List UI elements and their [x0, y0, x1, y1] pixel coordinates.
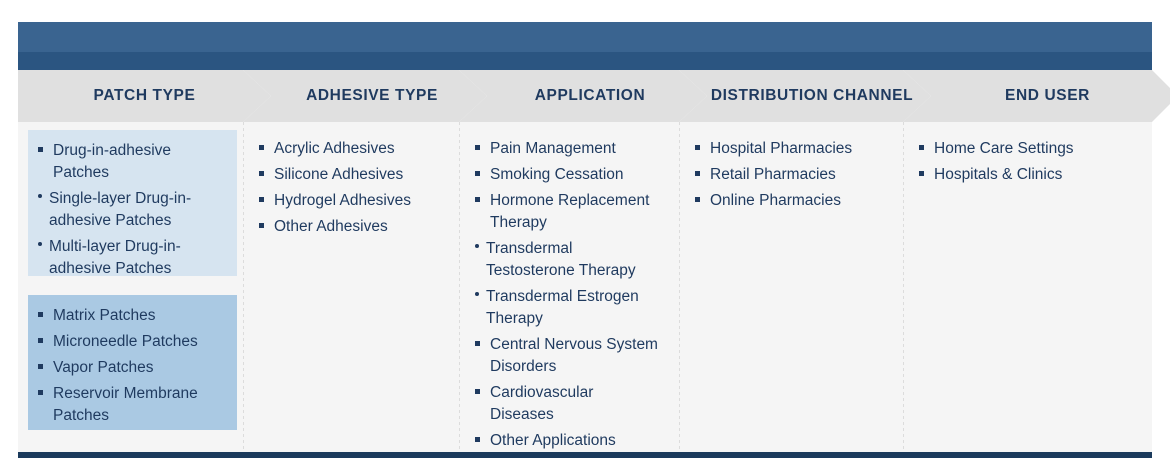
list-item[interactable]: Matrix Patches	[36, 305, 227, 327]
item-label: Retail Pharmacies	[710, 166, 836, 183]
list-item[interactable]: Other Applications	[473, 430, 661, 452]
column-header-distribution-channel[interactable]: DISTRIBUTION CHANNEL	[679, 70, 931, 122]
item-list: Pain ManagementSmoking CessationHormone …	[473, 138, 661, 452]
square-bullet-icon	[475, 171, 480, 176]
square-bullet-icon	[695, 145, 700, 150]
item-label: Smoking Cessation	[490, 166, 624, 183]
list-item[interactable]: Online Pharmacies	[693, 190, 885, 212]
column-header-label: ADHESIVE TYPE	[290, 87, 454, 105]
item-label: Other Applications	[490, 432, 616, 449]
top-accent-bar-upper	[18, 22, 1152, 52]
item-label: Microneedle Patches	[53, 333, 198, 350]
square-bullet-icon	[475, 341, 480, 346]
column-body-end-user: Home Care SettingsHospitals & Clinics	[903, 122, 1152, 452]
square-bullet-icon	[919, 171, 924, 176]
square-bullet-icon	[38, 147, 43, 152]
list-item[interactable]: Central Nervous System Disorders	[473, 334, 661, 378]
column-header-label: APPLICATION	[519, 87, 662, 105]
square-bullet-icon	[259, 197, 264, 202]
item-label: Cardiovascular Diseases	[490, 384, 593, 423]
square-bullet-icon	[38, 338, 43, 343]
item-label: Pain Management	[490, 140, 616, 157]
sub-list-item[interactable]: Single-layer Drug-in-adhesive Patches	[36, 188, 227, 232]
column-body-distribution-channel: Hospital PharmaciesRetail PharmaciesOnli…	[679, 122, 903, 452]
item-label: Vapor Patches	[53, 359, 154, 376]
dot-bullet-icon	[38, 194, 42, 198]
list-item[interactable]: Reservoir Membrane Patches	[36, 383, 227, 427]
item-label: Multi-layer Drug-in-adhesive Patches	[49, 238, 181, 277]
item-label: Matrix Patches	[53, 307, 156, 324]
item-list: Matrix PatchesMicroneedle PatchesVapor P…	[36, 305, 227, 427]
list-item[interactable]: Hospital Pharmacies	[693, 138, 885, 160]
column-header-application[interactable]: APPLICATION	[459, 70, 707, 122]
item-group: Pain ManagementSmoking CessationHormone …	[473, 138, 661, 456]
item-label: Online Pharmacies	[710, 192, 841, 209]
column-header-label: END USER	[989, 87, 1106, 105]
item-label: Other Adhesives	[274, 218, 388, 235]
item-label: Drug-in-adhesive Patches	[53, 142, 171, 181]
list-item[interactable]: Acrylic Adhesives	[257, 138, 441, 160]
item-group: Hospital PharmaciesRetail PharmaciesOnli…	[693, 138, 885, 216]
item-label: Transdermal Estrogen Therapy	[486, 288, 639, 327]
list-item[interactable]: Retail Pharmacies	[693, 164, 885, 186]
square-bullet-icon	[695, 197, 700, 202]
item-label: Hospitals & Clinics	[934, 166, 1062, 183]
square-bullet-icon	[259, 145, 264, 150]
list-item[interactable]: Drug-in-adhesive Patches	[36, 140, 227, 184]
item-label: Hormone Replacement Therapy	[490, 192, 649, 231]
item-label: Reservoir Membrane Patches	[53, 385, 198, 424]
column-header-label: DISTRIBUTION CHANNEL	[695, 87, 929, 105]
square-bullet-icon	[475, 145, 480, 150]
item-label: Transdermal Testosterone Therapy	[486, 240, 636, 279]
list-item[interactable]: Hormone Replacement Therapy	[473, 190, 661, 234]
list-item[interactable]: Vapor Patches	[36, 357, 227, 379]
square-bullet-icon	[259, 171, 264, 176]
list-item[interactable]: Hospitals & Clinics	[917, 164, 1134, 186]
square-bullet-icon	[475, 389, 480, 394]
column-header-label: PATCH TYPE	[78, 87, 212, 105]
square-bullet-icon	[919, 145, 924, 150]
item-list: Acrylic AdhesivesSilicone AdhesivesHydro…	[257, 138, 441, 238]
item-list: Hospital PharmaciesRetail PharmaciesOnli…	[693, 138, 885, 212]
square-bullet-icon	[38, 312, 43, 317]
square-bullet-icon	[38, 390, 43, 395]
list-item[interactable]: Home Care Settings	[917, 138, 1134, 160]
item-group: Matrix PatchesMicroneedle PatchesVapor P…	[28, 295, 237, 430]
square-bullet-icon	[475, 197, 480, 202]
list-item[interactable]: Cardiovascular Diseases	[473, 382, 661, 426]
sub-list-item[interactable]: Multi-layer Drug-in-adhesive Patches	[36, 236, 227, 280]
square-bullet-icon	[695, 171, 700, 176]
segmentation-chart: PATCH TYPEADHESIVE TYPEAPPLICATIONDISTRI…	[0, 0, 1170, 476]
column-body-application: Pain ManagementSmoking CessationHormone …	[459, 122, 679, 452]
list-item[interactable]: Hydrogel Adhesives	[257, 190, 441, 212]
dot-bullet-icon	[38, 242, 42, 246]
column-header-adhesive-type[interactable]: ADHESIVE TYPE	[243, 70, 487, 122]
column-body-patch-type: Drug-in-adhesive PatchesSingle-layer Dru…	[18, 122, 243, 452]
item-label: Acrylic Adhesives	[274, 140, 395, 157]
item-label: Home Care Settings	[934, 140, 1074, 157]
column-header-end-user[interactable]: END USER	[903, 70, 1170, 122]
item-label: Hydrogel Adhesives	[274, 192, 411, 209]
item-group: Home Care SettingsHospitals & Clinics	[917, 138, 1134, 190]
top-accent-bar	[18, 22, 1152, 70]
top-accent-bar-lower	[18, 52, 1152, 70]
item-label: Hospital Pharmacies	[710, 140, 852, 157]
list-item[interactable]: Other Adhesives	[257, 216, 441, 238]
square-bullet-icon	[259, 223, 264, 228]
column-body-adhesive-type: Acrylic AdhesivesSilicone AdhesivesHydro…	[243, 122, 459, 452]
item-label: Single-layer Drug-in-adhesive Patches	[49, 190, 191, 229]
bottom-accent-bar	[18, 452, 1152, 458]
sub-list-item[interactable]: Transdermal Testosterone Therapy	[473, 238, 661, 282]
item-label: Silicone Adhesives	[274, 166, 403, 183]
column-header-patch-type[interactable]: PATCH TYPE	[18, 70, 271, 122]
item-group: Acrylic AdhesivesSilicone AdhesivesHydro…	[257, 138, 441, 242]
list-item[interactable]: Smoking Cessation	[473, 164, 661, 186]
dot-bullet-icon	[475, 244, 479, 248]
item-label: Central Nervous System Disorders	[490, 336, 658, 375]
column-header-strip: PATCH TYPEADHESIVE TYPEAPPLICATIONDISTRI…	[18, 70, 1152, 122]
sub-list-item[interactable]: Transdermal Estrogen Therapy	[473, 286, 661, 330]
list-item[interactable]: Microneedle Patches	[36, 331, 227, 353]
dot-bullet-icon	[475, 292, 479, 296]
square-bullet-icon	[475, 437, 480, 442]
item-list: Drug-in-adhesive PatchesSingle-layer Dru…	[36, 140, 227, 280]
item-list: Home Care SettingsHospitals & Clinics	[917, 138, 1134, 186]
item-group: Drug-in-adhesive PatchesSingle-layer Dru…	[28, 130, 237, 276]
list-item[interactable]: Silicone Adhesives	[257, 164, 441, 186]
column-body-area: Drug-in-adhesive PatchesSingle-layer Dru…	[18, 122, 1152, 452]
square-bullet-icon	[38, 364, 43, 369]
list-item[interactable]: Pain Management	[473, 138, 661, 160]
